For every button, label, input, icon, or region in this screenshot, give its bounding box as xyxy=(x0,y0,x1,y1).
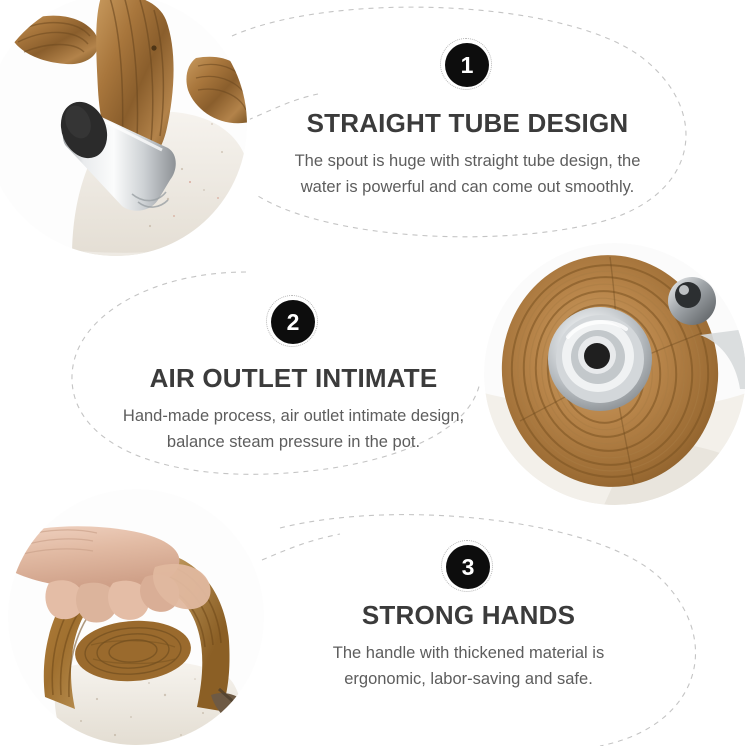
feature-body-3-line-2: ergonomic, labor-saving and safe. xyxy=(0,666,745,692)
badge-dotted-ring-2 xyxy=(266,295,318,347)
feature-body-2-line-2: balance steam pressure in the pot. xyxy=(0,429,745,455)
feature-body-2-line-1: Hand-made process, air outlet intimate d… xyxy=(0,403,745,429)
badge-dotted-ring-1 xyxy=(440,38,492,90)
feature-body-2: Hand-made process, air outlet intimate d… xyxy=(0,403,745,455)
feature-badge-1: 1 xyxy=(445,43,489,87)
feature-headline-1: STRAIGHT TUBE DESIGN xyxy=(0,108,745,139)
feature-body-1-line-1: The spout is huge with straight tube des… xyxy=(0,148,745,174)
infographic-page: 1 STRAIGHT TUBE DESIGN The spout is huge… xyxy=(0,0,745,746)
feature-headline-3: STRONG HANDS xyxy=(0,600,745,631)
badge-dotted-ring-3 xyxy=(441,540,493,592)
feature-body-1: The spout is huge with straight tube des… xyxy=(0,148,745,200)
feature-body-3-line-1: The handle with thickened material is xyxy=(0,640,745,666)
feature-headline-2: AIR OUTLET INTIMATE xyxy=(0,363,745,394)
feature-badge-3: 3 xyxy=(446,545,490,589)
feature-body-1-line-2: water is powerful and can come out smoot… xyxy=(0,174,745,200)
feature-badge-2: 2 xyxy=(271,300,315,344)
dashed-tail-3 xyxy=(262,534,340,560)
feature-body-3: The handle with thickened material is er… xyxy=(0,640,745,692)
